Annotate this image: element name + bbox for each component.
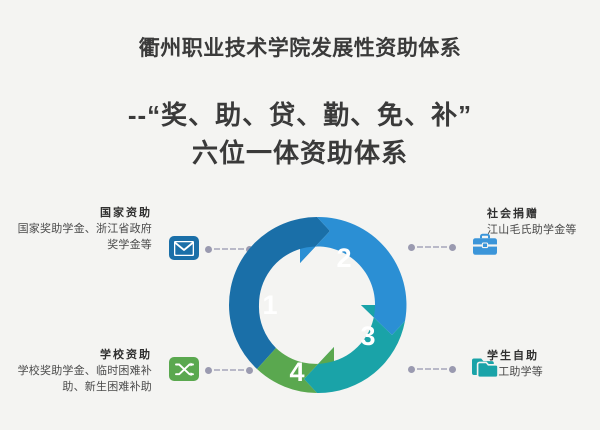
callout-description: 学校奖助学金、临时困难补助、新生困难补助 [14,363,152,395]
page-subtitle: --“奖、助、贷、勤、免、补” 六位一体资助体系 [0,96,600,172]
callout-national-funding: 国家资助 国家奖助学金、浙江省政府奖学金等 [14,206,152,253]
folder-icon [470,355,500,379]
callout-social-donation: 社会捐赠 江山毛氏助学金等 [487,207,600,238]
cycle-segment-2-number: 2 [336,243,351,273]
connector-dot [205,367,212,374]
cycle-segment-1-number: 1 [262,290,277,320]
callout-student-self-help: 学生自助 勤工助学等 [487,349,600,380]
callout-title: 国家资助 [14,206,152,221]
connector-dash [417,368,447,370]
connector-dot [449,244,456,251]
cycle-segment-4-number: 4 [289,357,304,387]
callout-title: 学生自助 [487,349,600,364]
callout-title: 社会捐赠 [487,207,600,222]
callout-description: 勤工助学等 [487,364,600,380]
connector-social [408,243,456,251]
mail-icon [169,236,199,260]
slide-canvas: 衢州职业技术学院发展性资助体系 --“奖、助、贷、勤、免、补” 六位一体资助体系… [0,0,600,430]
callout-school-funding: 学校资助 学校奖助学金、临时困难补助、新生困难补助 [14,348,152,395]
callout-title: 学校资助 [14,348,152,363]
callout-description: 江山毛氏助学金等 [487,222,600,238]
cycle-diagram: 1 2 3 4 [222,205,412,405]
shuffle-icon [169,357,199,381]
connector-dot [205,246,212,253]
subtitle-line-1: --“奖、助、贷、勤、免、补” [0,96,600,134]
subtitle-line-2: 六位一体资助体系 [0,134,600,172]
page-title: 衢州职业技术学院发展性资助体系 [0,32,600,62]
briefcase-icon [470,233,500,257]
cycle-segment-3-number: 3 [360,321,375,351]
connector-dot [449,366,456,373]
connector-dash [417,246,447,248]
cycle-segment-1 [229,217,330,369]
callout-description: 国家奖助学金、浙江省政府奖学金等 [14,221,152,253]
connector-self-help [408,365,456,373]
